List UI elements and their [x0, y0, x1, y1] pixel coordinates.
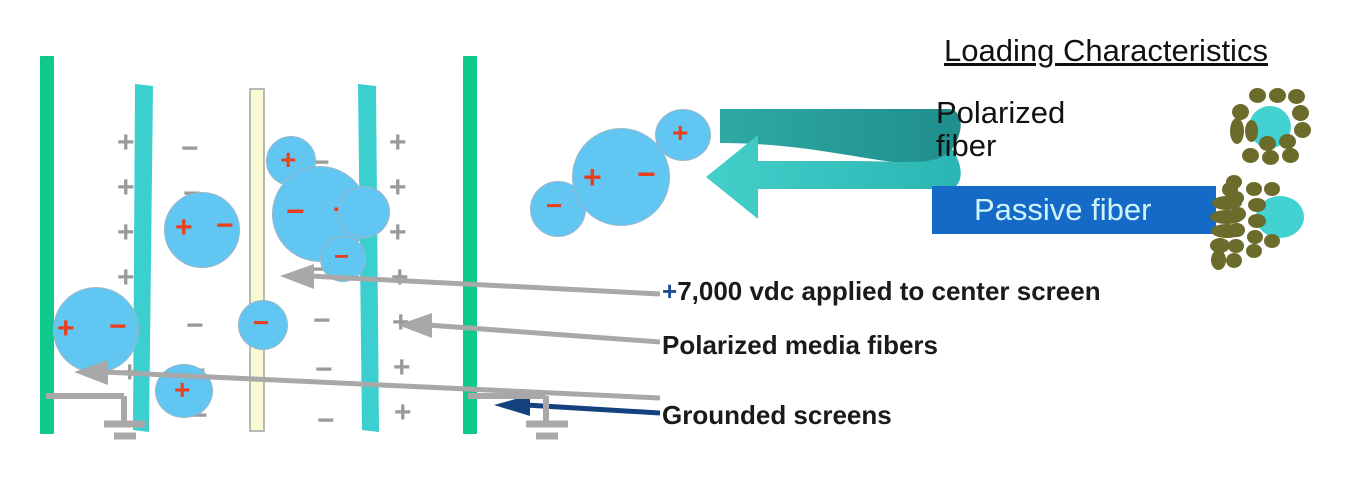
leader-line-center-screen: [280, 262, 660, 302]
legend-polarized-line1: Polarized: [936, 96, 1065, 129]
screen-charge-plus: +: [117, 263, 135, 293]
grounded-screen-left: [40, 56, 54, 434]
screen-charge-plus: +: [389, 173, 407, 203]
callout-voltage-text: 7,000 vdc applied to center screen: [677, 276, 1100, 306]
charge-sign-plus: +: [583, 161, 602, 193]
screen-charge-plus: +: [117, 128, 135, 158]
diagram-canvas: + + + + + + − − − − − − − − − − + + + + …: [0, 0, 1372, 492]
screen-charge-minus: −: [186, 311, 204, 341]
charge-sign-minus: −: [637, 158, 656, 190]
callout-voltage-accent: +: [662, 276, 677, 306]
legend-passive-label: Passive fiber: [932, 192, 1151, 228]
ground-symbol-left: [46, 388, 166, 448]
particle: [338, 186, 390, 238]
charge-sign-plus: +: [280, 146, 296, 174]
leader-line-polarized-media: [398, 312, 660, 350]
ground-symbol-right: [468, 388, 588, 448]
screen-charge-minus: −: [313, 306, 331, 336]
callout-grounded-screens: Grounded screens: [662, 400, 892, 431]
particle: −: [238, 300, 288, 350]
screen-charge-plus: +: [117, 218, 135, 248]
charge-sign-minus: −: [286, 195, 305, 227]
callout-polarized-media: Polarized media fibers: [662, 330, 938, 361]
screen-charge-plus: +: [389, 128, 407, 158]
passive-fiber-icon: [1202, 172, 1312, 268]
charge-sign-plus: +: [57, 314, 75, 344]
charge-sign-minus: −: [109, 312, 127, 342]
charge-sign-plus: +: [672, 119, 688, 147]
charge-sign-minus: −: [253, 309, 269, 337]
charge-sign-plus: +: [175, 213, 193, 243]
legend-polarized-label: Polarized fiber: [936, 96, 1065, 162]
screen-charge-minus: −: [181, 134, 199, 164]
screen-charge-minus: −: [317, 406, 335, 436]
particle: + −: [164, 192, 240, 268]
screen-charge-plus: +: [117, 173, 135, 203]
charge-sign-minus: −: [546, 192, 562, 220]
charge-sign-minus: −: [216, 211, 234, 241]
polarized-fiber-icon: [1218, 84, 1318, 170]
legend-passive-bar: Passive fiber: [932, 186, 1216, 234]
callout-voltage: +7,000 vdc applied to center screen: [662, 276, 1101, 307]
legend-title: Loading Characteristics: [944, 33, 1268, 69]
screen-charge-plus: +: [389, 218, 407, 248]
legend-polarized-line2: fiber: [936, 129, 1065, 162]
